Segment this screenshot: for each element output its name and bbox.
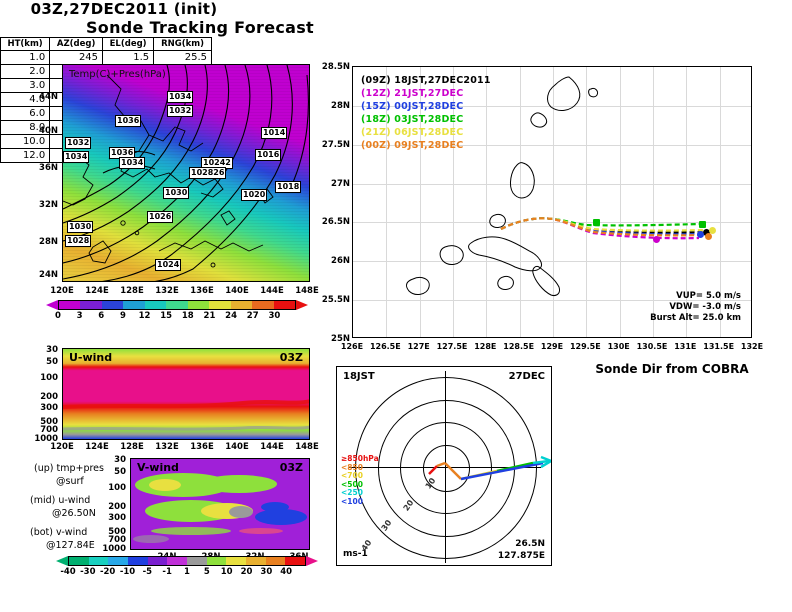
u-wind-x-tick: 120E	[46, 442, 78, 452]
table-cell: 1.5	[103, 51, 154, 65]
colorbar-segment	[226, 557, 246, 565]
hodograph-time-label: 18JST	[343, 371, 375, 382]
wind-colorbar: -40-30-20-10-5-11510203040	[56, 556, 318, 578]
tracking-x-tick: 126.5E	[367, 342, 403, 351]
tracking-legend-item: (21Z) 06JST,28DEC	[361, 127, 463, 138]
tracking-legend-item: (00Z) 09JST,28DEC	[361, 140, 463, 151]
panel-note-middle-line1: (mid) u-wind	[30, 494, 96, 507]
surface-map-y-tick: 44N	[32, 92, 58, 102]
colorbar-segment	[108, 557, 128, 565]
colorbar-segment	[123, 301, 144, 309]
u-wind-y-tick: 50	[30, 357, 58, 367]
tracking-x-tick: 128E	[467, 342, 503, 351]
tracking-note: Burst Alt= 25.0 km	[650, 313, 741, 323]
isobar-label: 1020	[241, 189, 267, 201]
table-header-row: HT(km)AZ(deg)EL(deg)RNG(km)	[1, 38, 212, 51]
panel-note-bottom-line2: @127.84E	[30, 539, 95, 552]
u-wind-x-tick: 136E	[186, 442, 218, 452]
table-column-header: AZ(deg)	[50, 38, 103, 51]
panel-note-middle-line2: @26.50N	[30, 507, 96, 520]
tracking-y-tick: 26.5N	[312, 217, 350, 227]
isobar-label: 1024	[155, 259, 181, 271]
panel-note-upper-line2: @surf	[34, 475, 104, 488]
u-wind-y-tick: 200	[30, 392, 58, 402]
colorbar-segment	[80, 301, 101, 309]
sonde-table-title: Sonde Dir from COBRA	[566, 362, 778, 376]
colorbar-segment	[207, 557, 227, 565]
colorbar-segment	[231, 301, 252, 309]
colorbar-segment	[59, 301, 80, 309]
isobar-label: 1034	[63, 151, 89, 163]
tracking-x-tick: 127.5E	[434, 342, 470, 351]
panel-note-middle: (mid) u-wind @26.50N	[30, 494, 96, 520]
surface-map-x-tick: 128E	[116, 286, 148, 296]
isobar-label: 1016	[255, 149, 281, 161]
pressure-legend-item: <100	[341, 498, 363, 506]
v-wind-y-tick: 1000	[94, 544, 126, 554]
isobar-label: 1032	[65, 137, 91, 149]
trajectory-endpoint-dot	[653, 236, 660, 243]
tracking-x-tick: 130.5E	[634, 342, 670, 351]
u-wind-x-tick: 144E	[256, 442, 288, 452]
trajectory-endpoint-dot	[705, 233, 712, 240]
table-column-header: HT(km)	[1, 38, 50, 51]
u-wind-x-tick: 148E	[291, 442, 323, 452]
u-wind-y-tick: 30	[30, 345, 58, 355]
tracking-x-tick: 128.5E	[501, 342, 537, 351]
v-wind-panel: V-wind 03Z	[130, 458, 310, 550]
tracking-y-tick: 27.5N	[312, 140, 350, 150]
u-wind-y-tick: 300	[30, 403, 58, 413]
hodograph-lon-label: 127.875E	[498, 551, 545, 561]
table-cell: 12.0	[1, 149, 50, 163]
tracking-x-tick: 127E	[401, 342, 437, 351]
tracking-title: Sonde Tracking Forecast	[0, 18, 400, 37]
v-wind-time-label: 03Z	[280, 461, 303, 474]
tracking-note: VUP= 5.0 m/s	[676, 291, 741, 301]
table-column-header: EL(deg)	[103, 38, 154, 51]
u-wind-y-tick: 100	[30, 373, 58, 383]
isobar-label: 1018	[275, 181, 301, 193]
isobar-label: 1034	[167, 91, 193, 103]
panel-note-bottom-line1: (bot) v-wind	[30, 526, 95, 539]
table-cell: 3.0	[1, 79, 50, 93]
surface-map-x-tick: 144E	[256, 286, 288, 296]
isobar-label: 1026	[147, 211, 173, 223]
surface-map-y-tick: 32N	[32, 200, 58, 210]
trajectory-endpoint-dot	[697, 231, 704, 238]
isobar-label: 1032	[167, 105, 193, 117]
tracking-x-tick: 132E	[734, 342, 770, 351]
colorbar-segment	[188, 301, 209, 309]
surface-map-overlay-label: Temp(C)+Pres(hPa)	[69, 69, 166, 80]
colorbar-tick: 40	[272, 567, 300, 577]
colorbar-segment	[187, 557, 207, 565]
sonde-tracking-panel: (09Z) 18JST,27DEC2011(12Z) 21JST,27DEC(1…	[352, 66, 752, 338]
colorbar-segment	[266, 557, 286, 565]
table-column-header: RNG(km)	[154, 38, 212, 51]
isobar-label: 1030	[67, 221, 93, 233]
table-cell: 25.5	[154, 51, 212, 65]
tracking-legend-item: (18Z) 03JST,28DEC	[361, 114, 463, 125]
tracking-y-tick: 28.5N	[312, 62, 350, 72]
colorbar-segment	[148, 557, 168, 565]
pressure-legend-item: ≥850hPa	[341, 455, 379, 463]
surface-map-y-tick: 28N	[32, 237, 58, 247]
u-wind-x-tick: 140E	[221, 442, 253, 452]
pressure-legend-item: <250	[341, 489, 363, 497]
colorbar-segment	[89, 557, 109, 565]
u-wind-x-tick: 132E	[151, 442, 183, 452]
u-wind-time-label: 03Z	[280, 351, 303, 364]
table-cell: 245	[50, 51, 103, 65]
colorbar-segment	[246, 557, 266, 565]
tracking-legend-item: (09Z) 18JST,27DEC2011	[361, 75, 491, 86]
tracking-x-tick: 130E	[601, 342, 637, 351]
surface-map-x-tick: 124E	[81, 286, 113, 296]
tracking-y-tick: 27N	[312, 179, 350, 189]
trajectory-launch-dot	[593, 219, 600, 226]
isobar-label: 1014	[261, 127, 287, 139]
pressure-legend-item: <700	[341, 472, 363, 480]
table-cell: 1.0	[1, 51, 50, 65]
panel-note-upper: (up) tmp+pres @surf	[34, 462, 104, 488]
surface-map-x-tick: 120E	[46, 286, 78, 296]
v-wind-y-tick: 200	[98, 502, 126, 512]
tracking-x-tick: 131E	[667, 342, 703, 351]
colorbar-segment	[252, 301, 273, 309]
u-wind-title: U-wind	[69, 351, 112, 364]
isobar-label: 1028	[65, 235, 91, 247]
tracking-y-tick: 25.5N	[312, 295, 350, 305]
temperature-colorbar: 036912151821242730	[46, 300, 308, 322]
surface-map-y-tick: 36N	[32, 163, 58, 173]
isobar-label: 1036	[115, 115, 141, 127]
hodograph-wind-profile	[337, 367, 552, 566]
table-row: 1.02451.525.5	[1, 51, 212, 65]
colorbar-segment	[69, 557, 89, 565]
table-cell: 10.0	[1, 135, 50, 149]
surface-map-x-tick: 140E	[221, 286, 253, 296]
u-wind-x-tick: 124E	[81, 442, 113, 452]
colorbar-segment	[102, 301, 123, 309]
hodograph-panel: 18JST 27DEC ms-1 26.5N 127.875E 10 20 30…	[336, 366, 552, 566]
tracking-legend-item: (15Z) 00JST,28DEC	[361, 101, 463, 112]
u-wind-x-tick: 128E	[116, 442, 148, 452]
hodograph-date-label: 27DEC	[509, 371, 545, 382]
surface-map-x-tick: 132E	[151, 286, 183, 296]
colorbar-segment	[145, 301, 166, 309]
colorbar-segment	[167, 557, 187, 565]
tracking-x-tick: 131.5E	[701, 342, 737, 351]
colorbar-segment	[274, 301, 295, 309]
tracking-legend-item: (12Z) 21JST,27DEC	[361, 88, 463, 99]
colorbar-tick: 30	[260, 311, 288, 321]
surface-map-y-tick: 40N	[32, 126, 58, 136]
panel-note-upper-line1: (up) tmp+pres	[34, 462, 104, 475]
isobar-label: 102826	[189, 167, 226, 179]
panel-note-bottom: (bot) v-wind @127.84E	[30, 526, 95, 552]
tracking-y-tick: 26N	[312, 256, 350, 266]
surface-map-title: 03Z,27DEC2011 (init)	[0, 0, 248, 18]
tracking-x-tick: 126E	[334, 342, 370, 351]
tracking-note: VDW= -3.0 m/s	[669, 302, 741, 312]
trajectory-endpoint-dot	[699, 221, 706, 228]
colorbar-segment	[209, 301, 230, 309]
u-wind-panel: U-wind 03Z	[62, 348, 310, 440]
table-cell: 6.0	[1, 107, 50, 121]
surface-map-x-tick: 136E	[186, 286, 218, 296]
tracking-x-tick: 129E	[534, 342, 570, 351]
table-cell: 2.0	[1, 65, 50, 79]
hodograph-lat-label: 26.5N	[515, 539, 545, 549]
surface-map-y-tick: 24N	[32, 270, 58, 280]
tracking-x-tick: 129.5E	[567, 342, 603, 351]
v-wind-title: V-wind	[137, 461, 179, 474]
isobar-label: 1034	[119, 157, 145, 169]
colorbar-segment	[166, 301, 187, 309]
colorbar-segment	[285, 557, 305, 565]
isobar-label: 1030	[163, 187, 189, 199]
tracking-y-tick: 28N	[312, 101, 350, 111]
v-wind-y-tick: 300	[98, 513, 126, 523]
surface-map-panel: Temp(C)+Pres(hPa) 1034 1032 1036 1014 10…	[62, 64, 310, 282]
colorbar-segment	[128, 557, 148, 565]
